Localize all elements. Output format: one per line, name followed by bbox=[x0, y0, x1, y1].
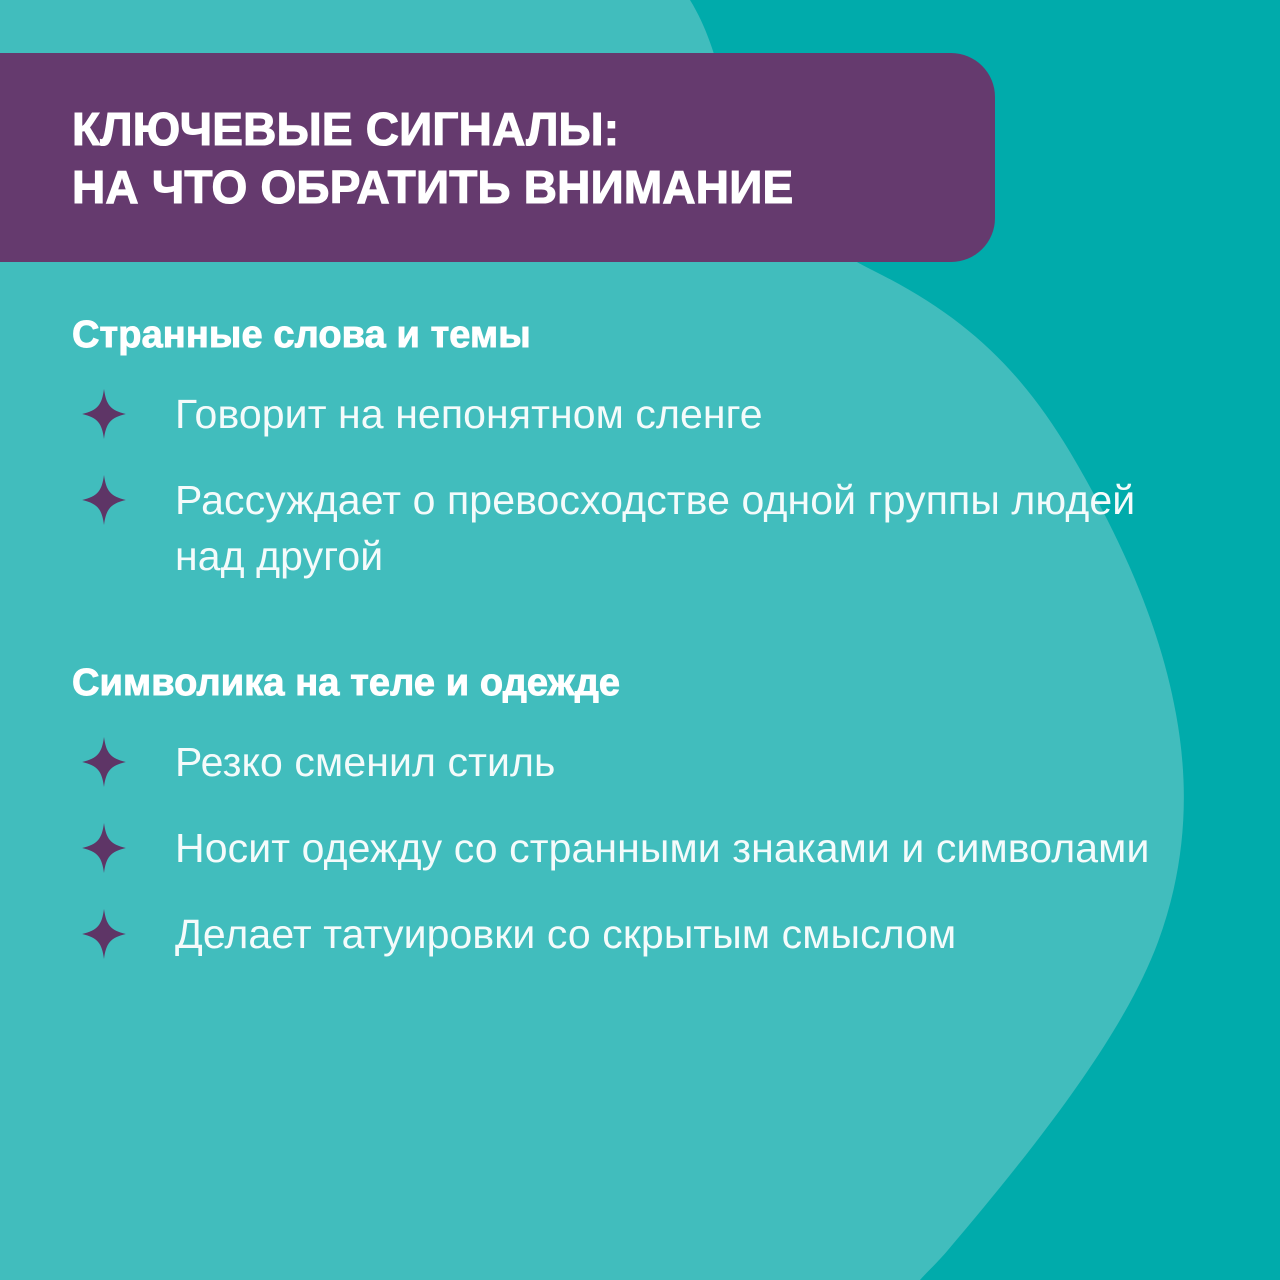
list-item: Носит одежду со странными знаками и симв… bbox=[0, 820, 1280, 876]
section-heading: Странные слова и темы bbox=[0, 312, 1280, 358]
list-item: Говорит на непонятном сленге bbox=[0, 386, 1280, 442]
section-heading: Символика на теле и одежде bbox=[0, 660, 1280, 706]
sparkle-icon bbox=[78, 908, 130, 960]
list-item-text: Рассуждает о превосходстве одной группы … bbox=[130, 472, 1280, 584]
title-banner: КЛЮЧЕВЫЕ СИГНАЛЫ: НА ЧТО ОБРАТИТЬ ВНИМАН… bbox=[0, 53, 995, 262]
list-item: Рассуждает о превосходстве одной группы … bbox=[0, 472, 1280, 584]
list-item-text: Делает татуировки со скрытым смыслом bbox=[130, 906, 1280, 962]
list-item: Резко сменил стиль bbox=[0, 734, 1280, 790]
sparkle-icon bbox=[78, 736, 130, 788]
sparkle-icon bbox=[78, 388, 130, 440]
bullet-list: Резко сменил стиль Носит одежду со стран… bbox=[0, 734, 1280, 962]
list-item-text: Резко сменил стиль bbox=[130, 734, 1280, 790]
list-item: Делает татуировки со скрытым смыслом bbox=[0, 906, 1280, 962]
list-item-text: Носит одежду со странными знаками и симв… bbox=[130, 820, 1280, 876]
page-title-line-2: НА ЧТО ОБРАТИТЬ ВНИМАНИЕ bbox=[72, 158, 995, 216]
list-item-text: Говорит на непонятном сленге bbox=[130, 386, 1280, 442]
content-area: Странные слова и темы Говорит на непонят… bbox=[0, 262, 1280, 962]
section-strange-words: Странные слова и темы Говорит на непонят… bbox=[0, 312, 1280, 584]
poster-slide: КЛЮЧЕВЫЕ СИГНАЛЫ: НА ЧТО ОБРАТИТЬ ВНИМАН… bbox=[0, 0, 1280, 1280]
page-title-line-1: КЛЮЧЕВЫЕ СИГНАЛЫ: bbox=[72, 100, 995, 158]
bullet-list: Говорит на непонятном сленге Рассуждает … bbox=[0, 386, 1280, 584]
sparkle-icon bbox=[78, 474, 130, 526]
sparkle-icon bbox=[78, 822, 130, 874]
section-symbols: Символика на теле и одежде Резко сменил … bbox=[0, 660, 1280, 962]
